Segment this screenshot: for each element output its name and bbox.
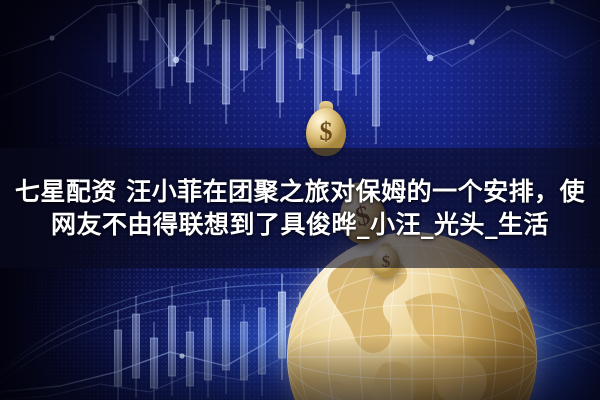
caption-block: 七星配资 汪小菲在团聚之旅对保姆的一个安排，使 网友不由得联想到了具俊晔_小汪_… — [0, 148, 600, 268]
caption-line-2: 网友不由得联想到了具俊晔_小汪_光头_生活 — [51, 210, 549, 240]
thumbnail-image: $ $ $ 七星配资 汪小菲在团聚之旅对保姆的一个安排，使 网友不由得联想到了具… — [0, 0, 600, 400]
caption-line-1: 七星配资 汪小菲在团聚之旅对保姆的一个安排，使 — [15, 177, 585, 207]
